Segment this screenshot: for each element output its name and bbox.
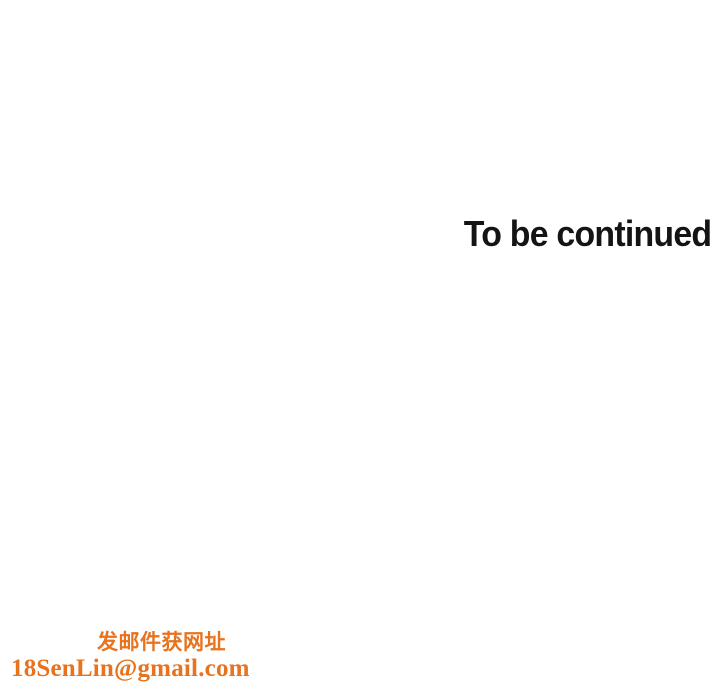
page-canvas: To be continued 发邮件获网址 18SenLin@gmail.co… bbox=[0, 0, 720, 692]
watermark: 发邮件获网址 18SenLin@gmail.com bbox=[0, 630, 260, 683]
end-card: To be continued bbox=[0, 212, 711, 256]
watermark-chinese-line: 发邮件获网址 bbox=[0, 630, 260, 654]
watermark-email-line: 18SenLin@gmail.com bbox=[0, 654, 260, 683]
end-card-text: To be continued bbox=[463, 212, 711, 256]
